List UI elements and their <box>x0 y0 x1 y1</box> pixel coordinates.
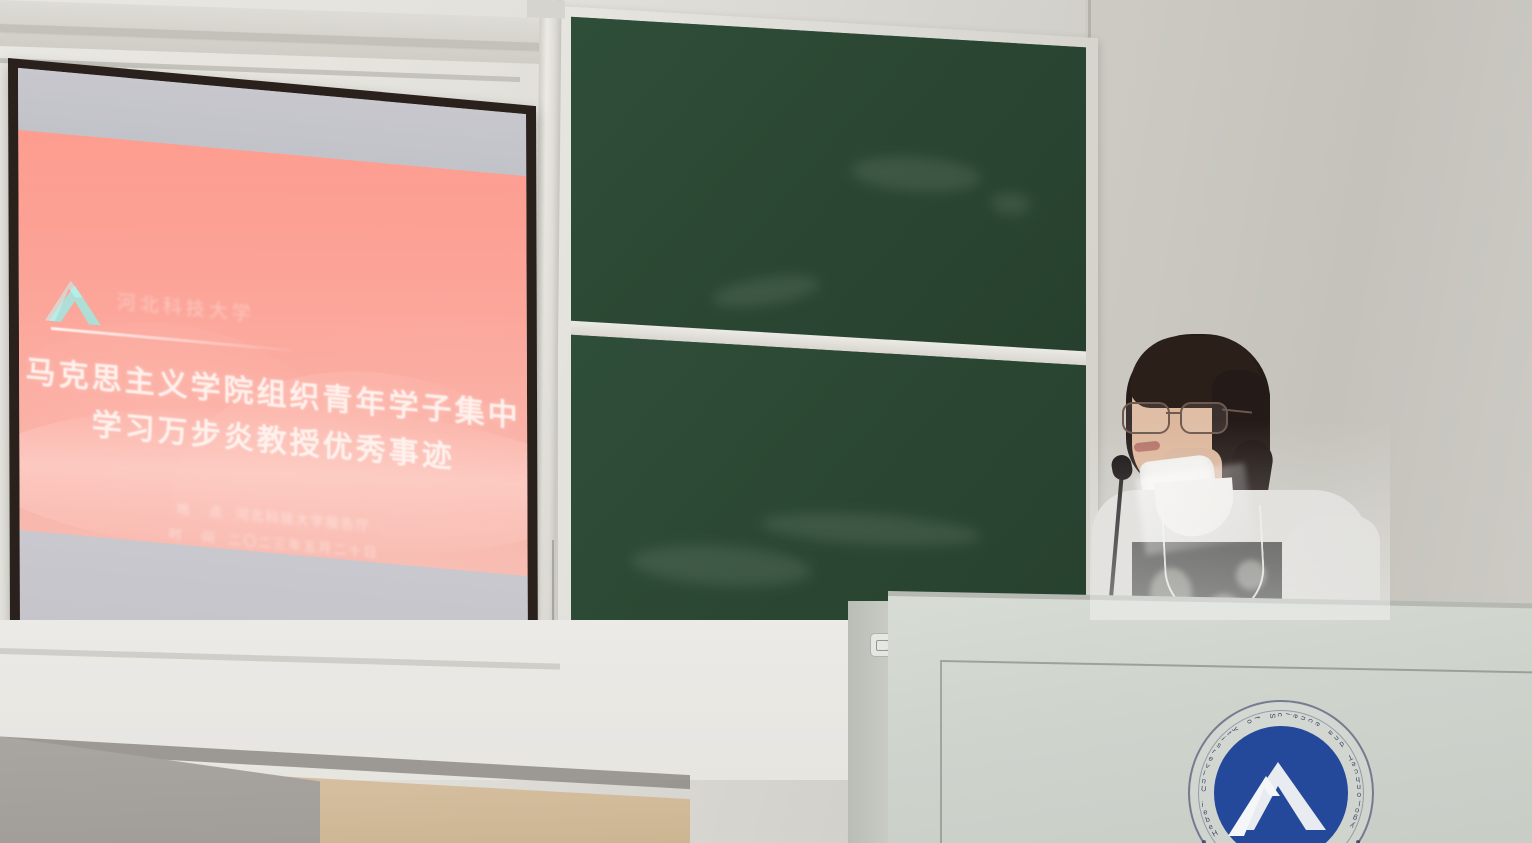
projection-screen-surface: 河北科技大学 马克思主义学院组织青年学子集中 学习万步炎教授优秀事迹 地 点 河… <box>18 68 528 676</box>
blackboard-surface <box>571 17 1086 692</box>
podium: Hebei University of Science and Technolo… <box>848 596 1532 843</box>
university-emblem: Hebei University of Science and Technolo… <box>1188 700 1374 843</box>
slide-logo-text: 河北科技大学 <box>117 287 255 327</box>
eyeglass-bridge <box>1166 412 1180 414</box>
projection-screen: 河北科技大学 马克思主义学院组织青年学子集中 学习万步炎教授优秀事迹 地 点 河… <box>8 58 538 686</box>
emblem-ring-char: i <box>1201 800 1203 809</box>
mountain-chevron-icon <box>45 274 107 332</box>
emblem-ring-char: y <box>1348 821 1356 831</box>
eyeglass-lens-left <box>1122 402 1170 434</box>
eyeglass-lens-right <box>1180 402 1228 434</box>
emblem-ring-char <box>1201 792 1203 801</box>
blackboard-panel-upper <box>571 17 1086 352</box>
slide-meta-label-location: 地 点 <box>176 501 230 521</box>
wall-conduit-cap <box>527 0 565 19</box>
presentation-slide: 河北科技大学 马克思主义学院组织青年学子集中 学习万步炎教授优秀事迹 地 点 河… <box>18 130 527 576</box>
emblem-disc <box>1214 726 1348 843</box>
podium-side-panel <box>848 601 890 843</box>
classroom-photo-scene: 河北科技大学 马克思主义学院组织青年学子集中 学习万步炎教授优秀事迹 地 点 河… <box>0 0 1532 843</box>
eyeglasses-icon <box>1122 402 1242 432</box>
emblem-mountain-icon <box>1214 726 1348 843</box>
